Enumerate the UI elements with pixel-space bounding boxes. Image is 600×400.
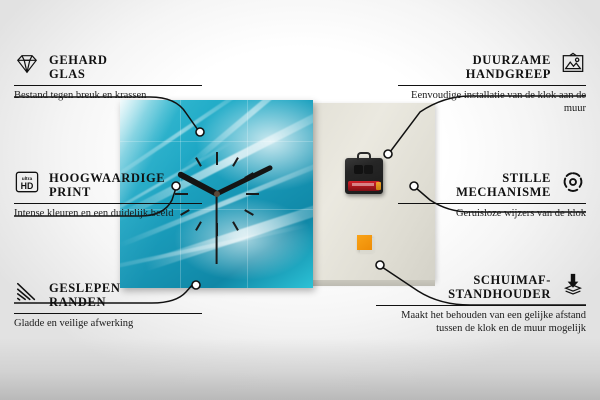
picture-frame-icon: [560, 52, 586, 76]
feature-description: Geruisloze wijzers van de klok: [398, 208, 586, 221]
feature-schuimafstandhouder: SCHUIMAF-STANDHOUDER Maakt het behouden …: [376, 272, 586, 335]
feature-description: Maakt het behouden van een gelijke afsta…: [376, 310, 586, 335]
divider: [14, 203, 202, 204]
feature-title: DUURZAMEHANDGREEP: [466, 52, 551, 81]
feature-title: HOOGWAARDIGEPRINT: [49, 170, 165, 199]
feature-geslepen-randen: GESLEPENRANDEN Gladde en veilige afwerki…: [14, 280, 202, 331]
mechanism-knob: [354, 165, 363, 174]
divider: [398, 85, 586, 86]
feature-stille-mechanisme: STILLEMECHANISME Geruisloze wijzers van …: [398, 170, 586, 221]
svg-text:HD: HD: [21, 181, 34, 191]
feature-description: Bestand tegen breuk en krassen: [14, 90, 202, 103]
feature-title: SCHUIMAF-STANDHOUDER: [448, 272, 551, 301]
clock-hub: [214, 191, 220, 197]
gear-icon: [560, 170, 586, 194]
clock-second-hand: [216, 194, 218, 264]
feature-gehard-glas: GEHARDGLAS Bestand tegen breuk en krasse…: [14, 52, 202, 103]
divider: [14, 85, 202, 86]
clock-mechanism: [345, 158, 383, 194]
feature-description: Gladde en veilige afwerking: [14, 318, 202, 331]
diamond-icon: [14, 52, 40, 76]
feature-title: STILLEMECHANISME: [456, 170, 551, 199]
feature-infographic: GEHARDGLAS Bestand tegen breuk en krasse…: [0, 0, 600, 400]
feature-title: GEHARDGLAS: [49, 52, 107, 81]
mechanism-hook: [357, 152, 371, 160]
feature-title: GESLEPENRANDEN: [49, 280, 121, 309]
divider: [398, 203, 586, 204]
divider: [376, 305, 586, 306]
feature-duurzame-handgreep: DUURZAMEHANDGREEP Eenvoudige installatie…: [398, 52, 586, 115]
bevelled-edge-icon: [14, 280, 40, 304]
battery: [348, 181, 380, 191]
divider: [14, 313, 202, 314]
feature-description: Intense kleuren en een duidelijk beeld: [14, 208, 202, 221]
ultra-hd-icon: ultraHD: [14, 170, 40, 194]
press-down-icon: [560, 272, 586, 296]
foam-spacer: [357, 235, 372, 250]
battery-label: [352, 183, 374, 186]
feature-hoogwaardige-print: ultraHD HOOGWAARDIGEPRINT Intense kleure…: [14, 170, 202, 221]
feature-description: Eenvoudige installatie van de klok aan d…: [398, 90, 586, 115]
